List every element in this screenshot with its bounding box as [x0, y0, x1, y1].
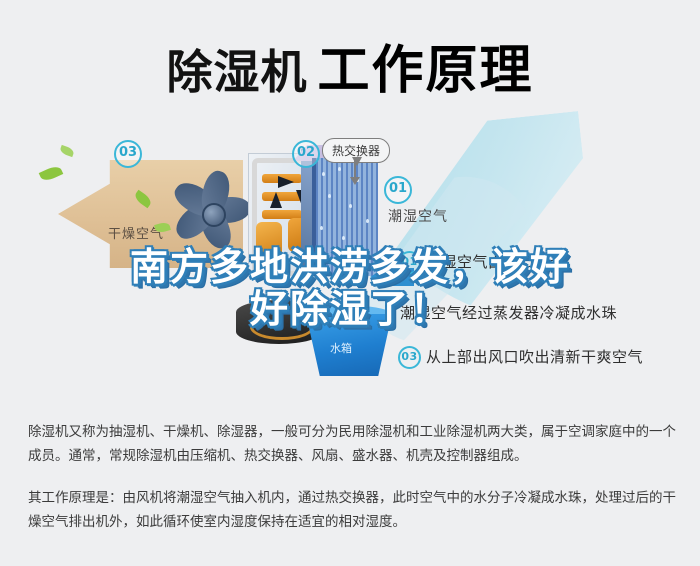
water-tank-label: 水箱 — [330, 340, 352, 356]
page-title: 除湿机工作原理 — [0, 28, 700, 103]
dehumidifier-diagram: 干燥空气 — [0, 118, 700, 403]
flow-arrow-up-icon — [270, 192, 282, 208]
badge-02: 02 — [292, 140, 320, 168]
machine-base-ring-graphic — [250, 314, 314, 340]
step-badge-03: 03 — [398, 346, 421, 369]
fan-hub — [202, 203, 226, 227]
step-item-01: 01潮湿空气由风口吸进 — [398, 251, 566, 274]
step-item-03: 03从上部出风口吹出清新干爽空气 — [398, 346, 643, 369]
badge-03: 03 — [114, 140, 142, 168]
leaf-icon — [39, 164, 64, 183]
leaf-icon — [59, 145, 75, 157]
step-text-01: 潮湿空气由风口吸进 — [426, 253, 566, 271]
callout-pointer-icon — [354, 160, 356, 180]
infographic-page: 除湿机工作原理 干燥空气 — [0, 0, 700, 566]
title-part-two: 工作原理 — [317, 41, 533, 101]
step-item-02: 潮湿空气经过蒸发器冷凝成水珠 — [400, 302, 617, 323]
body-paragraph-2: 其工作原理是：由风机将潮湿空气抽入机内，通过热交换器，此时空气中的水分子冷凝成水… — [28, 486, 676, 534]
flow-arrow-right-icon — [278, 176, 294, 188]
badge-01: 01 — [384, 176, 412, 204]
step-text-03: 从上部出风口吹出清新干爽空气 — [426, 348, 643, 366]
condensation-droplets-graphic — [316, 164, 372, 272]
step-text-02: 潮湿空气经过蒸发器冷凝成水珠 — [400, 304, 617, 322]
compressor-graphic — [256, 222, 282, 260]
step-badge-01: 01 — [398, 251, 421, 274]
humid-air-label: 潮湿空气 — [388, 206, 448, 226]
title-part-one: 除湿机 — [166, 45, 307, 99]
body-paragraph-1: 除湿机又称为抽湿机、干燥机、除湿器，一般可分为民用除湿机和工业除湿机两大类，属于… — [28, 420, 676, 468]
